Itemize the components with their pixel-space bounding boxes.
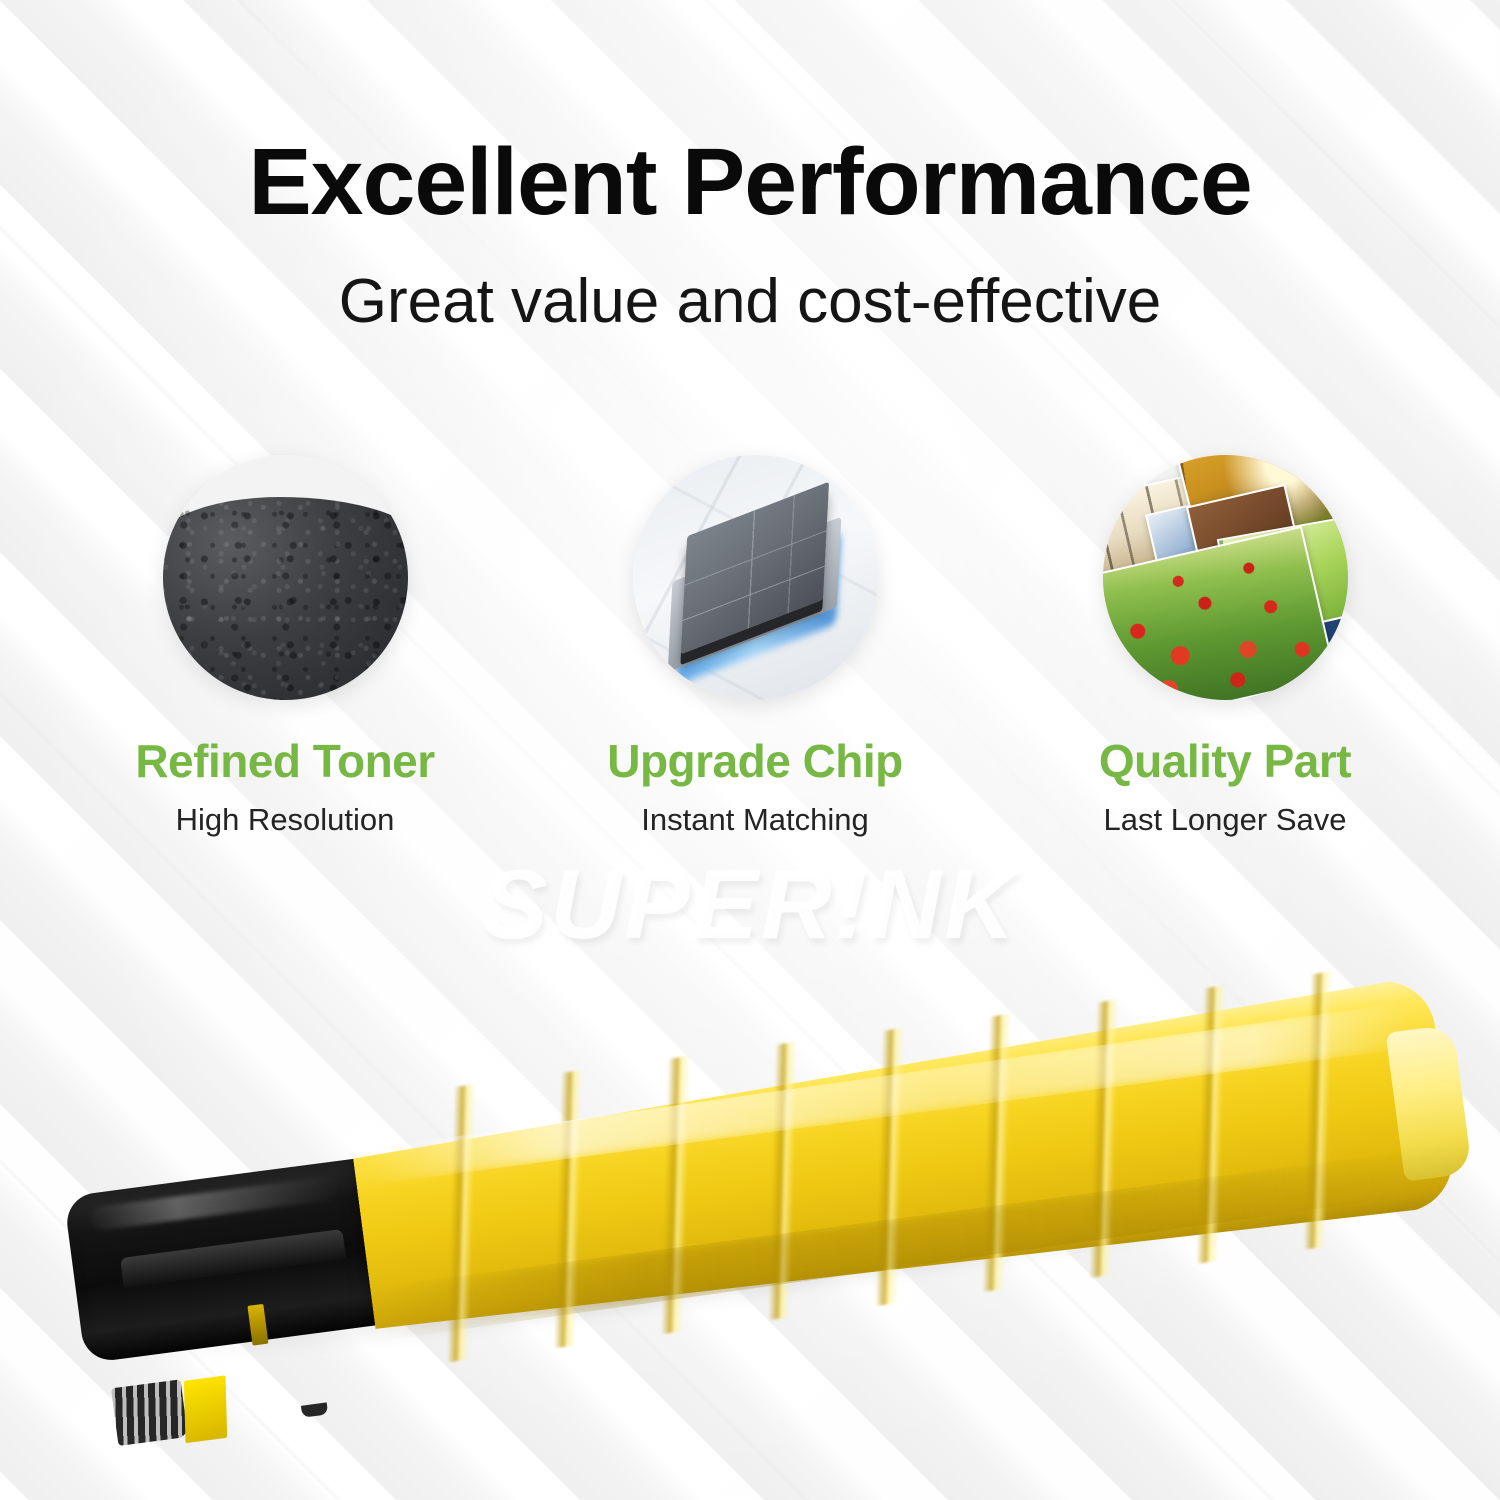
feature-list: Refined Toner High Resolution Upgrade Ch…: [95, 455, 1415, 838]
feature-subtitle-quality-part: Last Longer Save: [1103, 802, 1346, 838]
cap-gear-vent: [111, 1379, 188, 1446]
cap-highlight: [89, 1175, 340, 1231]
cap-yellow-label: [184, 1375, 227, 1443]
cap-yellow-notch: [247, 1304, 268, 1346]
feature-item-quality-part: Quality Part Last Longer Save: [1035, 455, 1415, 838]
chip-scene: [633, 455, 878, 700]
feature-title-quality-part: Quality Part: [1099, 734, 1351, 788]
page-title: Excellent Performance: [0, 133, 1500, 233]
feature-title-upgrade-chip: Upgrade Chip: [607, 734, 903, 788]
toner-powder-icon: [163, 455, 408, 700]
page-subtitle: Great value and cost-effective: [0, 268, 1500, 336]
photo-collage-icon: [1103, 455, 1348, 700]
toner-scene: [163, 455, 408, 700]
product-feature-banner: Excellent Performance Great value and co…: [0, 0, 1500, 1500]
chip-icon: [633, 455, 878, 700]
feature-subtitle-refined-toner: High Resolution: [176, 802, 395, 838]
toner-heap-shape: [163, 497, 408, 700]
feature-subtitle-upgrade-chip: Instant Matching: [641, 802, 868, 838]
toner-grain-texture: [163, 497, 408, 700]
feature-title-refined-toner: Refined Toner: [135, 734, 434, 788]
feature-item-refined-toner: Refined Toner High Resolution: [95, 455, 475, 838]
photo-collage-scene: [1103, 455, 1348, 700]
cap-top-tab: [120, 1229, 346, 1288]
feature-item-upgrade-chip: Upgrade Chip Instant Matching: [565, 455, 945, 838]
